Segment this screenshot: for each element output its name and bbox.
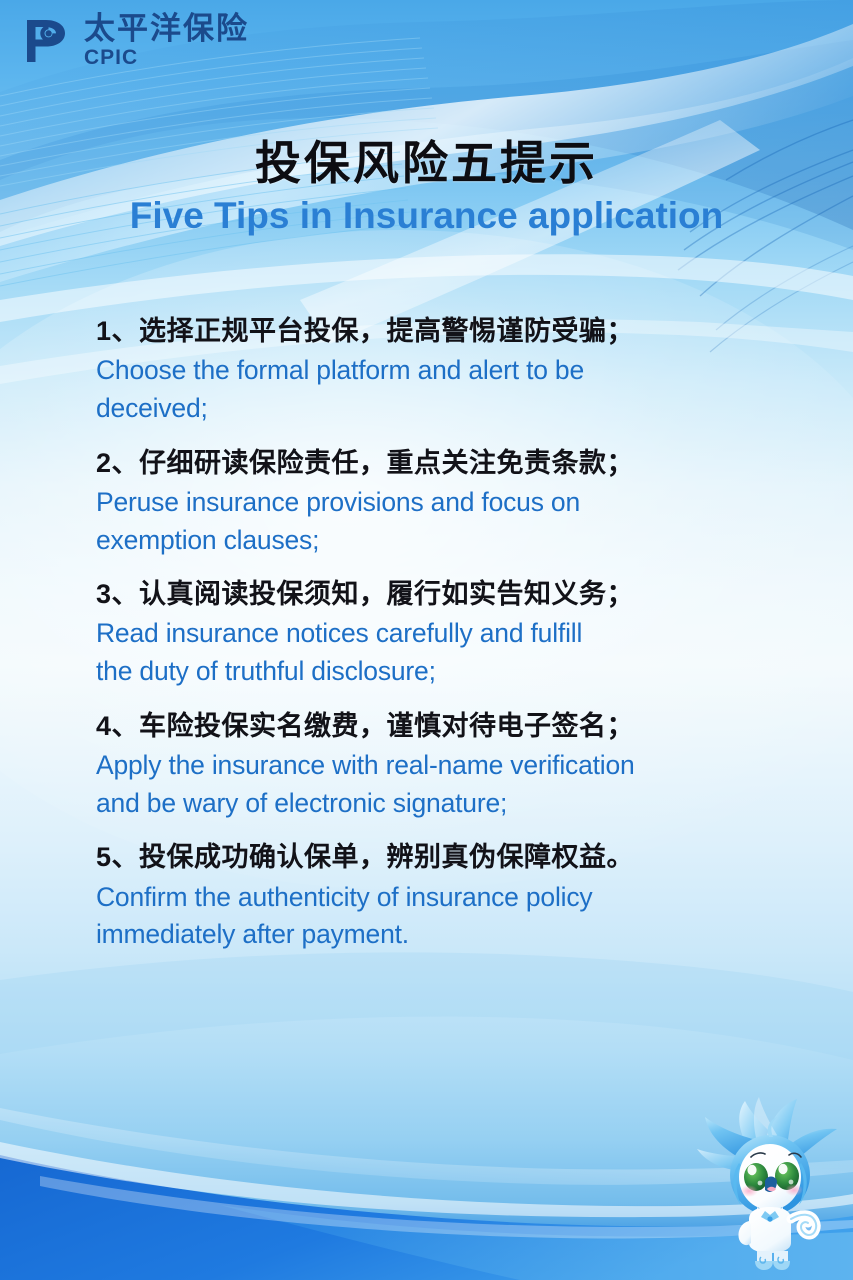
cpic-p-logo-icon [22,16,72,66]
tip-5-en-line2: immediately after payment. [96,916,796,954]
tip-4-en-line2: and be wary of electronic signature; [96,785,796,823]
tip-5-en: Confirm the authenticity of insurance po… [96,879,796,954]
brand-wordmark: 太平洋保险 CPIC [84,13,249,70]
poster-root: 太平洋保险 CPIC 投保风险五提示 Five Tips in Insuranc… [0,0,853,1280]
brand-name-cn: 太平洋保险 [84,13,249,46]
cpic-mascot-icon [695,1097,845,1272]
tip-4-en-line1: Apply the insurance with real-name verif… [96,747,796,785]
tip-1-en: Choose the formal platform and alert to … [96,352,796,427]
tip-item-4: 4、车险投保实名缴费，谨慎对待电子签名； Apply the insurance… [96,707,796,823]
tip-1-cn: 1、选择正规平台投保，提高警惕谨防受骗； [96,312,796,350]
tip-2-en-line1: Peruse insurance provisions and focus on [96,484,796,522]
page-title-en: Five Tips in Insurance application [0,194,853,238]
brand-header: 太平洋保险 CPIC [0,0,853,82]
tip-2-cn: 2、仔细研读保险责任，重点关注免责条款； [96,444,796,482]
tip-1-en-line1: Choose the formal platform and alert to … [96,352,796,390]
tip-item-3: 3、认真阅读投保须知，履行如实告知义务； Read insurance noti… [96,575,796,691]
tip-3-en-line2: the duty of truthful disclosure; [96,653,796,691]
tip-item-1: 1、选择正规平台投保，提高警惕谨防受骗； Choose the formal p… [96,312,796,428]
tip-4-cn: 4、车险投保实名缴费，谨慎对待电子签名； [96,707,796,745]
tip-3-en-line1: Read insurance notices carefully and ful… [96,615,796,653]
page-title-cn: 投保风险五提示 [0,136,853,190]
tip-item-2: 2、仔细研读保险责任，重点关注免责条款； Peruse insurance pr… [96,444,796,560]
tip-5-cn: 5、投保成功确认保单，辨别真伪保障权益。 [96,838,796,876]
tip-2-en-line2: exemption clauses; [96,522,796,560]
tips-list: 1、选择正规平台投保，提高警惕谨防受骗； Choose the formal p… [96,312,796,954]
title-block: 投保风险五提示 Five Tips in Insurance applicati… [0,136,853,239]
tip-3-cn: 3、认真阅读投保须知，履行如实告知义务； [96,575,796,613]
tip-1-en-line2: deceived; [96,390,796,428]
tip-2-en: Peruse insurance provisions and focus on… [96,484,796,559]
tip-5-en-line1: Confirm the authenticity of insurance po… [96,879,796,917]
tip-4-en: Apply the insurance with real-name verif… [96,747,796,822]
tip-item-5: 5、投保成功确认保单，辨别真伪保障权益。 Confirm the authent… [96,838,796,954]
tip-3-en: Read insurance notices carefully and ful… [96,615,796,690]
brand-name-en: CPIC [84,46,249,69]
